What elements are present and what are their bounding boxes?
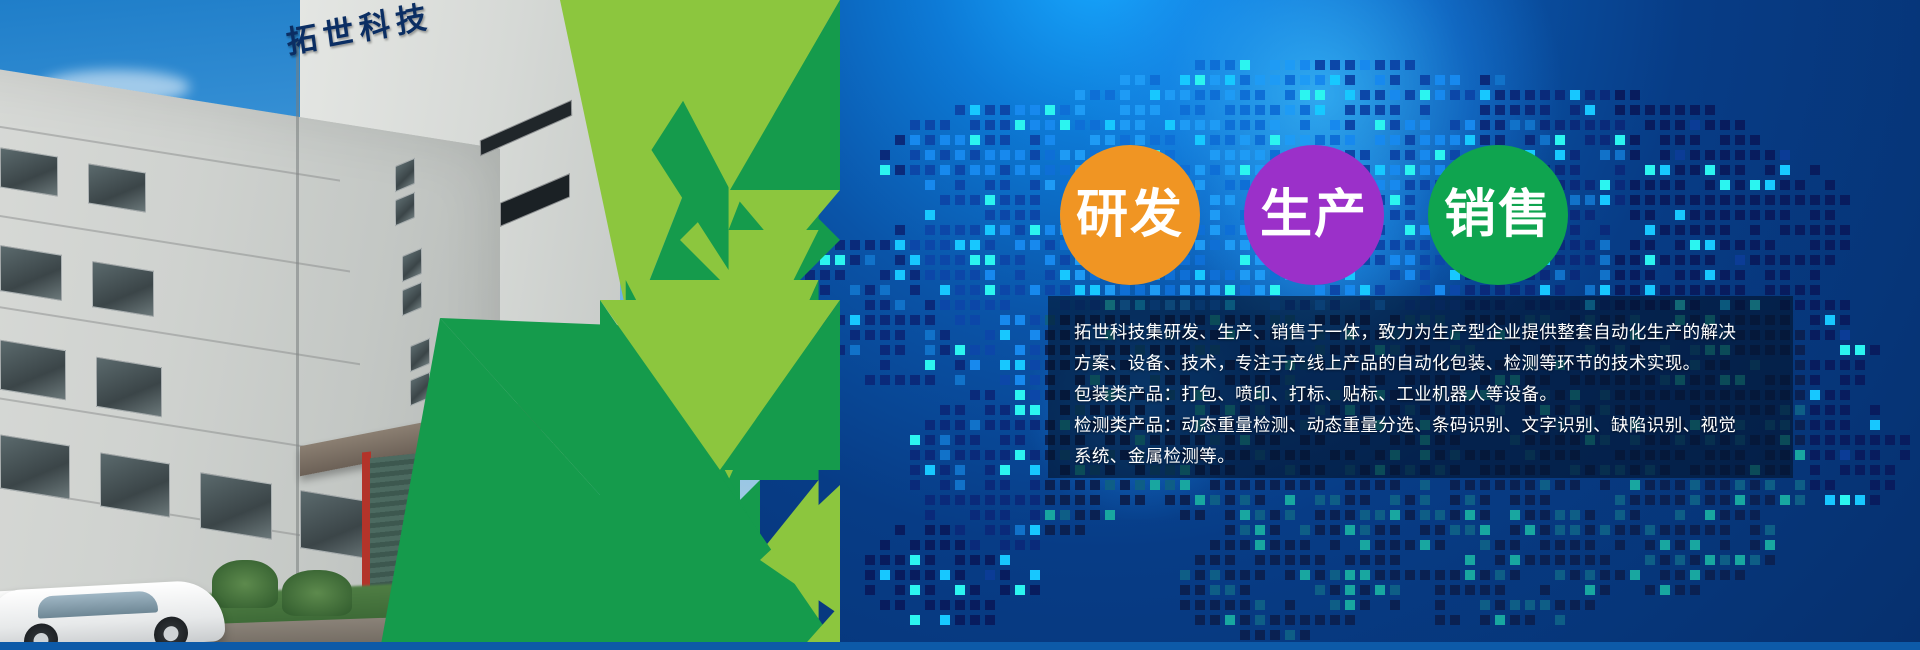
map-dot [1585, 210, 1595, 220]
map-dot [1675, 195, 1685, 205]
map-dot [1030, 570, 1040, 580]
map-dot [1300, 60, 1310, 70]
map-dot [1300, 75, 1310, 85]
map-dot [1420, 75, 1430, 85]
map-dot [1000, 585, 1010, 595]
map-dot [1285, 570, 1295, 580]
map-dot [1735, 180, 1745, 190]
map-dot [1540, 90, 1550, 100]
map-dot [1075, 120, 1085, 130]
map-dot [1240, 510, 1250, 520]
map-dot [1840, 405, 1850, 415]
map-dot [1435, 615, 1445, 625]
map-dot [1000, 105, 1010, 115]
map-dot [1345, 585, 1355, 595]
map-dot [1225, 495, 1235, 505]
map-dot [1870, 495, 1880, 505]
map-dot [1720, 240, 1730, 250]
map-dot [1420, 570, 1430, 580]
map-dot [1675, 495, 1685, 505]
map-dot [1390, 90, 1400, 100]
map-dot [1375, 555, 1385, 565]
map-dot [1315, 615, 1325, 625]
map-dot [1645, 195, 1655, 205]
map-dot [1585, 540, 1595, 550]
map-dot [1030, 120, 1040, 130]
map-dot [1870, 405, 1880, 415]
map-dot [1300, 120, 1310, 130]
map-dot [1645, 480, 1655, 490]
map-dot [1750, 480, 1760, 490]
map-dot [1030, 540, 1040, 550]
map-dot [1660, 150, 1670, 160]
map-dot [1090, 90, 1100, 100]
map-dot [1015, 240, 1025, 250]
badge-sales[interactable]: 销售 [1428, 145, 1568, 285]
map-dot [1615, 180, 1625, 190]
map-dot [1810, 330, 1820, 340]
map-dot [1465, 480, 1475, 490]
map-dot [1465, 120, 1475, 130]
map-dot [1000, 450, 1010, 460]
map-dot [1450, 615, 1460, 625]
map-dot [1525, 90, 1535, 100]
map-dot [1720, 270, 1730, 280]
map-dot [1180, 105, 1190, 115]
map-dot [1750, 225, 1760, 235]
map-dot [1705, 225, 1715, 235]
map-dot [985, 525, 995, 535]
map-dot [1045, 525, 1055, 535]
map-dot [1585, 510, 1595, 520]
map-dot [1015, 195, 1025, 205]
map-dot [1660, 135, 1670, 145]
map-dot [1270, 555, 1280, 565]
map-dot [1045, 240, 1055, 250]
map-dot [1765, 180, 1775, 190]
map-dot [1585, 105, 1595, 115]
map-dot [1705, 570, 1715, 580]
map-dot [1240, 480, 1250, 490]
map-dot [1840, 240, 1850, 250]
map-dot [1270, 630, 1280, 640]
map-dot [1555, 270, 1565, 280]
map-dot [1555, 150, 1565, 160]
map-dot [1075, 105, 1085, 115]
map-dot [1645, 285, 1655, 295]
map-dot [1180, 600, 1190, 610]
map-dot [1420, 165, 1430, 175]
map-dot [1420, 495, 1430, 505]
map-dot [1795, 420, 1805, 430]
map-dot [970, 495, 980, 505]
map-dot [1030, 420, 1040, 430]
map-dot [1255, 600, 1265, 610]
map-dot [1570, 120, 1580, 130]
map-dot [1840, 435, 1850, 445]
map-dot [1750, 255, 1760, 265]
map-dot [1555, 90, 1565, 100]
map-dot [1225, 165, 1235, 175]
map-dot [1795, 375, 1805, 385]
map-dot [985, 510, 995, 520]
badge-production[interactable]: 生产 [1244, 145, 1384, 285]
map-dot [1045, 135, 1055, 145]
map-dot [1375, 90, 1385, 100]
map-dot [1810, 390, 1820, 400]
map-dot [1720, 120, 1730, 130]
map-dot [1705, 255, 1715, 265]
map-dot [1060, 165, 1070, 175]
map-dot [1015, 375, 1025, 385]
map-dot [1690, 210, 1700, 220]
map-dot [1855, 345, 1865, 355]
map-dot [1390, 135, 1400, 145]
window [0, 434, 70, 499]
map-dot [1615, 195, 1625, 205]
description-line: 系统、金属检测等。 [1074, 442, 1767, 473]
map-dot [1210, 225, 1220, 235]
map-dot [1600, 135, 1610, 145]
map-dot [1615, 540, 1625, 550]
map-dot [1720, 495, 1730, 505]
map-dot [1630, 180, 1640, 190]
map-dot [1420, 135, 1430, 145]
map-dot [1510, 495, 1520, 505]
map-dot [1525, 510, 1535, 520]
badge-production-label: 生产 [1260, 189, 1368, 241]
map-dot [1825, 195, 1835, 205]
map-dot [1720, 165, 1730, 175]
map-dot [1345, 525, 1355, 535]
map-dot [1315, 495, 1325, 505]
map-dot [1435, 150, 1445, 160]
map-dot [1030, 210, 1040, 220]
map-dot [1105, 120, 1115, 130]
map-dot [1660, 555, 1670, 565]
map-dot [1690, 105, 1700, 115]
map-dot [1825, 225, 1835, 235]
map-dot [1795, 435, 1805, 445]
map-dot [1870, 420, 1880, 430]
window [0, 245, 62, 301]
map-dot [1135, 285, 1145, 295]
map-dot [1450, 480, 1460, 490]
map-dot [1300, 105, 1310, 115]
map-dot [1330, 585, 1340, 595]
map-dot [1660, 180, 1670, 190]
map-dot [1720, 210, 1730, 220]
map-dot [1180, 75, 1190, 85]
map-dot [1195, 165, 1205, 175]
map-dot [1795, 450, 1805, 460]
badge-sales-label: 销售 [1444, 189, 1552, 241]
map-dot [1285, 135, 1295, 145]
map-dot [1270, 510, 1280, 520]
map-dot [1705, 240, 1715, 250]
map-dot [1420, 120, 1430, 130]
map-dot [970, 435, 980, 445]
map-dot [1480, 90, 1490, 100]
map-dot [1855, 450, 1865, 460]
map-dot [1750, 135, 1760, 145]
map-dot [1600, 240, 1610, 250]
map-dot [1330, 120, 1340, 130]
map-dot [1360, 510, 1370, 520]
map-dot [1540, 285, 1550, 295]
map-dot [1375, 540, 1385, 550]
map-dot [1510, 285, 1520, 295]
map-dot [1690, 480, 1700, 490]
map-dot [1675, 510, 1685, 520]
map-dot [1030, 165, 1040, 175]
map-dot [1420, 270, 1430, 280]
map-dot [1435, 585, 1445, 595]
parked-car [0, 579, 225, 650]
map-dot [1765, 480, 1775, 490]
map-dot [1825, 210, 1835, 220]
map-dot [1840, 450, 1850, 460]
map-dot [1510, 600, 1520, 610]
map-dot [1405, 210, 1415, 220]
map-dot [1345, 600, 1355, 610]
map-dot [1090, 285, 1100, 295]
map-dot [985, 180, 995, 190]
map-dot [1840, 345, 1850, 355]
map-dot [1015, 585, 1025, 595]
map-dot [970, 420, 980, 430]
map-dot [1525, 105, 1535, 115]
map-dot [1435, 525, 1445, 535]
map-dot [1795, 300, 1805, 310]
map-dot [1540, 585, 1550, 595]
map-dot [1000, 435, 1010, 445]
map-dot [1795, 390, 1805, 400]
map-dot [1045, 510, 1055, 520]
map-dot [1705, 105, 1715, 115]
map-dot [1495, 90, 1505, 100]
map-dot [970, 285, 980, 295]
map-dot [1585, 120, 1595, 130]
map-dot [1255, 495, 1265, 505]
map-dot [1690, 570, 1700, 580]
map-dot [970, 390, 980, 400]
map-dot [1060, 270, 1070, 280]
map-dot [1570, 105, 1580, 115]
map-dot [1795, 345, 1805, 355]
map-dot [1825, 390, 1835, 400]
map-dot [1495, 75, 1505, 85]
map-dot [1015, 255, 1025, 265]
map-dot [1705, 285, 1715, 295]
map-dot [1645, 180, 1655, 190]
map-dot [1225, 285, 1235, 295]
map-dot [1675, 150, 1685, 160]
map-dot [970, 225, 980, 235]
map-dot [1210, 60, 1220, 70]
map-dot [1825, 360, 1835, 370]
map-dot [1465, 570, 1475, 580]
map-dot [1240, 285, 1250, 295]
map-dot [1735, 150, 1745, 160]
map-dot [1000, 570, 1010, 580]
description-line: 检测类产品：动态重量检测、动态重量分选、条码识别、文字识别、缺陷识别、视觉 [1074, 411, 1767, 442]
map-dot [985, 615, 995, 625]
map-dot [1285, 540, 1295, 550]
map-dot [1660, 165, 1670, 175]
badge-rd[interactable]: 研发 [1060, 145, 1200, 285]
map-dot [1030, 480, 1040, 490]
window [96, 357, 162, 417]
map-dot [1825, 495, 1835, 505]
map-dot [1720, 180, 1730, 190]
map-dot [1330, 525, 1340, 535]
map-dot [1390, 570, 1400, 580]
map-dot [1015, 390, 1025, 400]
map-dot [1555, 570, 1565, 580]
map-dot [1060, 105, 1070, 115]
map-dot [1480, 525, 1490, 535]
map-dot [1060, 120, 1070, 130]
map-dot [1390, 120, 1400, 130]
map-dot [1465, 90, 1475, 100]
map-dot [1225, 555, 1235, 565]
map-dot [1315, 480, 1325, 490]
map-dot [1465, 135, 1475, 145]
map-dot [985, 300, 995, 310]
map-dot [1675, 570, 1685, 580]
map-dot [1375, 120, 1385, 130]
map-dot [985, 195, 995, 205]
map-dot [1630, 195, 1640, 205]
map-dot [1195, 285, 1205, 295]
map-dot [1525, 600, 1535, 610]
map-dot [1645, 495, 1655, 505]
map-dot [985, 465, 995, 475]
map-dot [1255, 90, 1265, 100]
map-dot [1000, 375, 1010, 385]
map-dot [1615, 120, 1625, 130]
map-dot [1795, 330, 1805, 340]
map-dot [1735, 120, 1745, 130]
map-dot [1675, 180, 1685, 190]
map-dot [1015, 120, 1025, 130]
map-dot [1150, 480, 1160, 490]
map-dot [1375, 60, 1385, 70]
map-dot [1030, 525, 1040, 535]
map-dot [1300, 630, 1310, 640]
map-dot [1585, 570, 1595, 580]
map-dot [1240, 630, 1250, 640]
map-dot [1810, 300, 1820, 310]
map-dot [1015, 210, 1025, 220]
map-dot [1270, 285, 1280, 295]
map-dot [985, 165, 995, 175]
map-dot [1705, 480, 1715, 490]
map-dot [1510, 555, 1520, 565]
map-dot [1105, 510, 1115, 520]
map-dot [1390, 105, 1400, 115]
map-dot [1705, 495, 1715, 505]
map-dot [1495, 285, 1505, 295]
map-dot [1645, 105, 1655, 115]
map-dot [1000, 510, 1010, 520]
map-dot [1675, 105, 1685, 115]
map-dot [1000, 210, 1010, 220]
map-dot [1075, 525, 1085, 535]
map-dot [1030, 495, 1040, 505]
map-dot [1195, 105, 1205, 115]
map-dot [1495, 135, 1505, 145]
map-dot [1675, 255, 1685, 265]
map-dot [1120, 495, 1130, 505]
map-dot [1675, 210, 1685, 220]
map-dot [970, 510, 980, 520]
map-dot [1450, 585, 1460, 595]
map-dot [1315, 75, 1325, 85]
map-dot [1840, 315, 1850, 325]
map-dot [1720, 225, 1730, 235]
map-dot [1345, 105, 1355, 115]
map-dot [1375, 525, 1385, 535]
map-dot [1720, 510, 1730, 520]
map-dot [1270, 540, 1280, 550]
badge-rd-label: 研发 [1076, 189, 1184, 241]
map-dot [1015, 285, 1025, 295]
map-dot [1255, 270, 1265, 280]
map-dot [1705, 555, 1715, 565]
map-dot [1045, 180, 1055, 190]
map-dot [1510, 105, 1520, 115]
map-dot [1840, 195, 1850, 205]
map-dot [1600, 195, 1610, 205]
map-dot [1855, 465, 1865, 475]
map-dot [1450, 495, 1460, 505]
map-dot [1690, 495, 1700, 505]
map-dot [970, 105, 980, 115]
map-dot [1810, 270, 1820, 280]
map-dot [1345, 120, 1355, 130]
window [200, 472, 272, 539]
map-dot [1780, 270, 1790, 280]
map-dot [1285, 480, 1295, 490]
map-dot [1000, 555, 1010, 565]
map-dot [1060, 495, 1070, 505]
map-dot [970, 255, 980, 265]
map-dot [1540, 510, 1550, 520]
map-dot [1660, 525, 1670, 535]
map-dot [1270, 480, 1280, 490]
seam-triangles [600, 0, 840, 650]
map-dot [1630, 150, 1640, 160]
map-dot [1240, 585, 1250, 595]
map-dot [1420, 255, 1430, 265]
map-dot [1690, 225, 1700, 235]
map-dot [1210, 195, 1220, 205]
map-dot [1030, 465, 1040, 475]
map-dot [1420, 285, 1430, 295]
map-dot [1315, 285, 1325, 295]
map-dot [1780, 195, 1790, 205]
map-dot [1375, 75, 1385, 85]
map-dot [1390, 480, 1400, 490]
map-dot [1735, 195, 1745, 205]
map-dot [1570, 555, 1580, 565]
map-dot [1420, 180, 1430, 190]
map-dot [1030, 135, 1040, 145]
map-dot [1060, 525, 1070, 535]
map-dot [1120, 105, 1130, 115]
